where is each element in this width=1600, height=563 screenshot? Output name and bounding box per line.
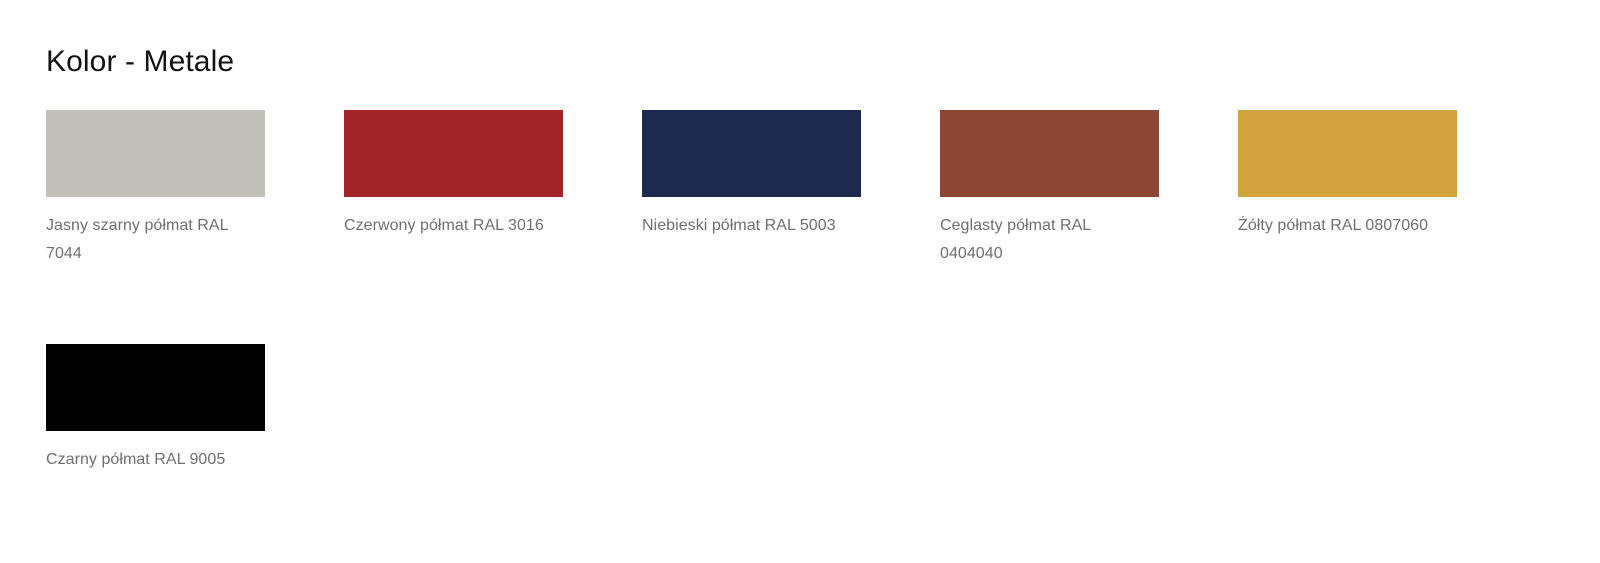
color-swatch-item[interactable]: Żółty półmat RAL 0807060 [1238,110,1457,268]
color-swatch-label: Czarny półmat RAL 9005 [46,446,256,474]
color-swatch-chip[interactable] [344,110,563,197]
color-swatch-chip[interactable] [46,344,265,431]
color-swatch-label: Jasny szarny półmat RAL 7044 [46,212,256,268]
color-swatch-label: Czerwony półmat RAL 3016 [344,212,554,240]
color-swatch-chip[interactable] [940,110,1159,197]
color-swatch-page: Kolor - Metale Jasny szarny półmat RAL 7… [0,0,1600,563]
color-swatch-item[interactable]: Niebieski półmat RAL 5003 [642,110,861,268]
color-swatch-chip[interactable] [642,110,861,197]
page-title: Kolor - Metale [46,43,234,81]
color-swatch-grid: Jasny szarny półmat RAL 7044Czerwony pół… [46,110,1506,474]
color-swatch-chip[interactable] [1238,110,1457,197]
color-swatch-chip[interactable] [46,110,265,197]
color-swatch-item[interactable]: Jasny szarny półmat RAL 7044 [46,110,265,268]
color-swatch-label: Żółty półmat RAL 0807060 [1238,212,1448,240]
color-swatch-item[interactable]: Czarny półmat RAL 9005 [46,344,265,474]
color-swatch-label: Ceglasty półmat RAL 0404040 [940,212,1150,268]
color-swatch-item[interactable]: Ceglasty półmat RAL 0404040 [940,110,1159,268]
color-swatch-item[interactable]: Czerwony półmat RAL 3016 [344,110,563,268]
color-swatch-label: Niebieski półmat RAL 5003 [642,212,852,240]
